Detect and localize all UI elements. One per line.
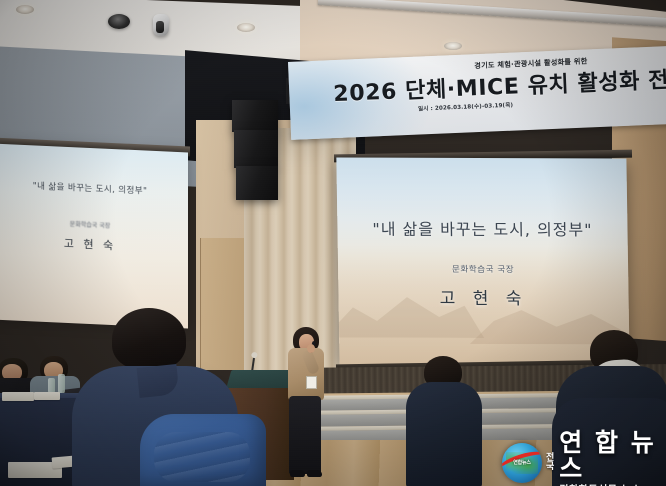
- foreground-head: [112, 308, 186, 370]
- globe-label: 연합뉴스: [505, 459, 539, 466]
- slide-role: 문화학습국 국장: [338, 262, 628, 275]
- slide-headline: "내 삶을 바꾸는 도시, 의정부": [337, 215, 627, 240]
- hall-door: [200, 238, 245, 370]
- dome-camera-icon: [108, 14, 130, 29]
- speaker-icon: [232, 100, 278, 132]
- globe-icon: 연합뉴스: [502, 443, 542, 483]
- handout-paper: [34, 392, 60, 400]
- speaker-icon: [234, 130, 278, 168]
- news-watermark: 연합뉴스 전 국 연 합 뉴 스 경찰합동신문·뉴스: [502, 430, 666, 486]
- watermark-text-block: 연 합 뉴 스 경찰합동신문·뉴스: [559, 430, 666, 486]
- presenter-shoe: [307, 470, 322, 477]
- handout-paper: [2, 392, 34, 401]
- downlight-icon: [444, 42, 462, 50]
- presenter-trousers: [289, 396, 321, 474]
- left-slide-role: 문화학습국 국장: [0, 216, 188, 234]
- presenter-hand: [307, 344, 315, 353]
- left-slide-name: 고 현 숙: [0, 232, 188, 257]
- photo-scene: "내 삶을 바꾸는 도시, 의정부" 문화학습국 국장 고 현 숙 경기도 체험…: [0, 0, 666, 486]
- bottle-icon: [58, 374, 65, 394]
- watermark-prefix-bottom: 국: [546, 463, 554, 472]
- left-projection-screen: "내 삶을 바꾸는 도시, 의정부" 문화학습국 국장 고 현 숙: [0, 144, 188, 329]
- presenter-name-badge: [306, 376, 317, 389]
- presenter-shoe: [290, 470, 305, 477]
- watermark-main-title: 연 합 뉴 스: [559, 430, 666, 482]
- event-banner: 경기도 체험·관광시설 활성화를 위한 2026 단체·MICE 유치 활성화 …: [288, 46, 666, 140]
- main-projection-screen: "내 삶을 바꾸는 도시, 의정부" 문화학습국 국장 고 현 숙: [336, 158, 629, 367]
- left-slide-headline: "내 삶을 바꾸는 도시, 의정부": [0, 178, 188, 199]
- draped-jacket: [140, 414, 266, 486]
- audience-torso: [406, 382, 482, 486]
- speaker-icon: [236, 166, 278, 200]
- watermark-prefix: 전 국: [546, 454, 554, 472]
- downlight-icon: [237, 23, 255, 32]
- slide-presenter-name: 고 현 숙: [338, 283, 628, 309]
- security-camera-icon: [153, 14, 169, 36]
- downlight-icon: [16, 5, 34, 14]
- watermark-subtitle: 경찰합동신문·뉴스: [559, 481, 666, 486]
